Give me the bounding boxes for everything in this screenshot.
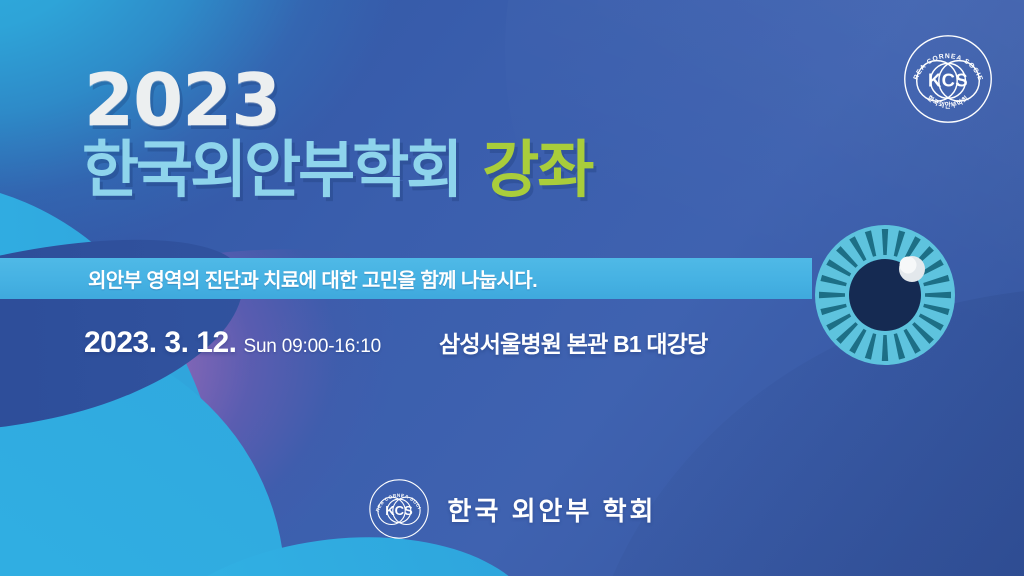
poster-title-main: 한국외안부학회 [82,140,460,202]
footer-org-name: 한국 외안부 학회 [448,491,657,528]
eye-iris-graphic [812,222,958,368]
poster-canvas: KOREA CORNEA SOCIETY KCS 한국외안부학회 2023 한국… [0,0,1024,576]
event-info-row: 2023. 3. 12. Sun 09:00-16:10 삼성서울병원 본관 B… [84,325,708,360]
kcs-logo-bottom: KOREA CORNEA SOCIETY KCS [368,478,430,540]
event-day-time: Sun 09:00-16:10 [243,336,381,358]
poster-subtitle: 외안부 영역의 진단과 치료에 대한 고민을 함께 나눕시다. [88,264,537,293]
eye-highlight-inner [900,257,917,274]
kcs-logo-top: KOREA CORNEA SOCIETY KCS 한국외안부학회 [902,33,994,125]
logo-acronym: KCS [385,503,413,518]
event-date: 2023. 3. 12. [84,326,236,360]
logo-arc-bottom-text: 한국외안부학회 [926,93,971,109]
poster-title-row: 한국외안부학회 강좌 [82,140,592,202]
event-venue: 삼성서울병원 본관 B1 대강당 [439,325,708,359]
poster-title-accent: 강좌 [482,140,592,202]
footer-branding: KOREA CORNEA SOCIETY KCS 한국 외안부 학회 [0,478,1024,540]
poster-year: 2023 [84,66,280,134]
subtitle-band: 외안부 영역의 진단과 치료에 대한 고민을 함께 나눕시다. [0,258,812,299]
logo-acronym: KCS [928,69,968,90]
